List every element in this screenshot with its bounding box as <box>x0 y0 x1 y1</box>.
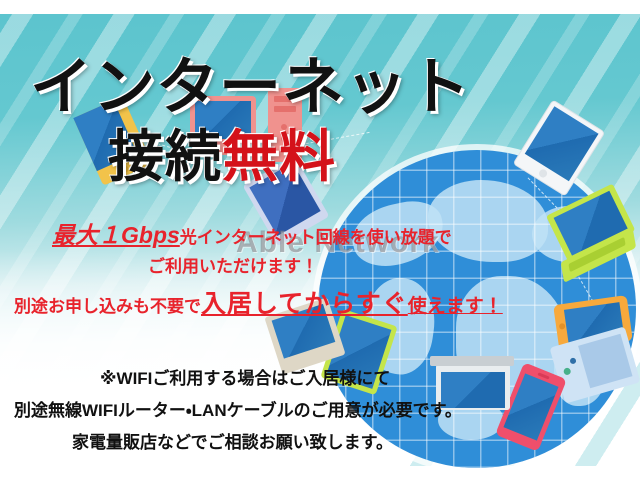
headline-line-2: 接続無料 <box>108 112 336 193</box>
promo-moveins-emphasis: 入居してからすぐ <box>201 290 408 318</box>
headline-connection-label: 接続 <box>108 125 222 188</box>
headline-free-label: 無料 <box>222 125 336 188</box>
note-line-2: 別途無線WIFIルーター・LANケーブルのご用意が必要です。 <box>14 396 462 421</box>
note-line-3: 家電量販店などでご相談お願い致します。 <box>72 428 393 453</box>
promo-line-3-tail: 使えます！ <box>408 296 503 317</box>
promo-banner: Able Network インターネット 接続無料 最大１Gbps光インターネッ… <box>0 0 640 480</box>
promo-speed-emphasis: 最大１Gbps <box>52 222 180 248</box>
promo-line-1: 最大１Gbps光インターネット回線を使い放題で <box>52 216 452 250</box>
note-line-1: ※WIFIご利用する場合はご入居様にて <box>100 364 390 389</box>
promo-line-3-lead: 別途お申し込みも不要で <box>14 297 201 316</box>
promo-line-3: 別途お申し込みも不要で入居してからすぐ使えます！ <box>14 284 503 320</box>
promo-line-1-rest: 光インターネット回線を使い放題で <box>180 228 452 247</box>
top-white-band <box>0 0 640 14</box>
promo-line-2: ご利用いただけます！ <box>148 252 318 277</box>
